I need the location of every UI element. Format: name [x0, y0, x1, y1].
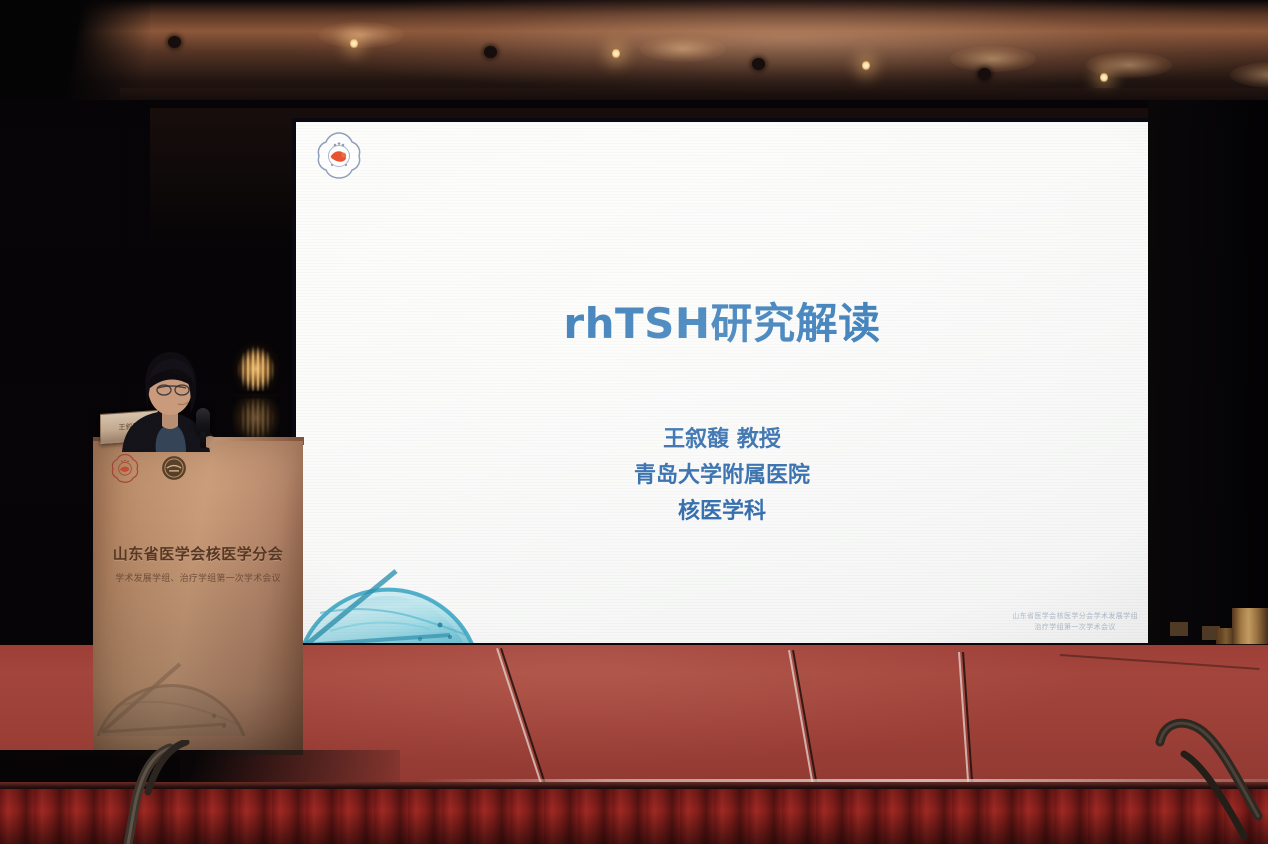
ceiling-light-halo [950, 46, 1036, 72]
slide-subtitle-line-2: 青岛大学附属医院 [296, 458, 1148, 494]
stage-stair-railing [90, 740, 270, 844]
wall-plate [1170, 622, 1188, 636]
slide-title: rhTSH研究解读 [296, 290, 1148, 351]
ceiling-fixture [752, 58, 765, 70]
ceiling-spotlight [350, 38, 358, 49]
slide-footer: 山东省医学会核医学分会学术发展学组 治疗学组第一次学术会议 [1012, 611, 1138, 633]
slide-subtitle-line-1: 王叙馥 教授 [296, 422, 1148, 458]
conference-photo-scene: rhTSH研究解读 王叙馥 教授 青岛大学附属医院 核医学科 [0, 0, 1268, 844]
ceiling-spotlight [862, 60, 870, 71]
ceiling-spotlight [612, 48, 620, 59]
ceiling-light-halo [640, 36, 726, 62]
podium-shading [93, 441, 303, 755]
society-emblem-logo [314, 130, 364, 180]
ceiling-fixture [484, 46, 497, 58]
teal-semicircle-graphic [300, 553, 476, 643]
microphone-handle [200, 432, 206, 448]
ceiling-light-halo [1086, 52, 1172, 78]
right-wall [1148, 100, 1268, 660]
sconce-ledge [228, 394, 284, 397]
ceiling-spotlight [1100, 72, 1108, 83]
sconce-light-bars [232, 333, 280, 391]
ceiling-fixture [168, 36, 181, 48]
slide-subtitle-block: 王叙馥 教授 青岛大学附属医院 核医学科 [296, 422, 1148, 530]
ceiling-fixture [978, 68, 991, 80]
ceiling-light-halo [318, 22, 404, 48]
amber-wall-sconce [232, 333, 280, 391]
slide-footer-line-2: 治疗学组第一次学术会议 [1012, 622, 1138, 633]
stage-stair-railing-right [1140, 690, 1268, 844]
slide-footer-line-1: 山东省医学会核医学分会学术发展学组 [1012, 611, 1138, 622]
slide-subtitle-line-3: 核医学科 [296, 494, 1148, 530]
projection-screen: rhTSH研究解读 王叙馥 教授 青岛大学附属医院 核医学科 [296, 122, 1148, 643]
speaker-figure [104, 342, 234, 452]
